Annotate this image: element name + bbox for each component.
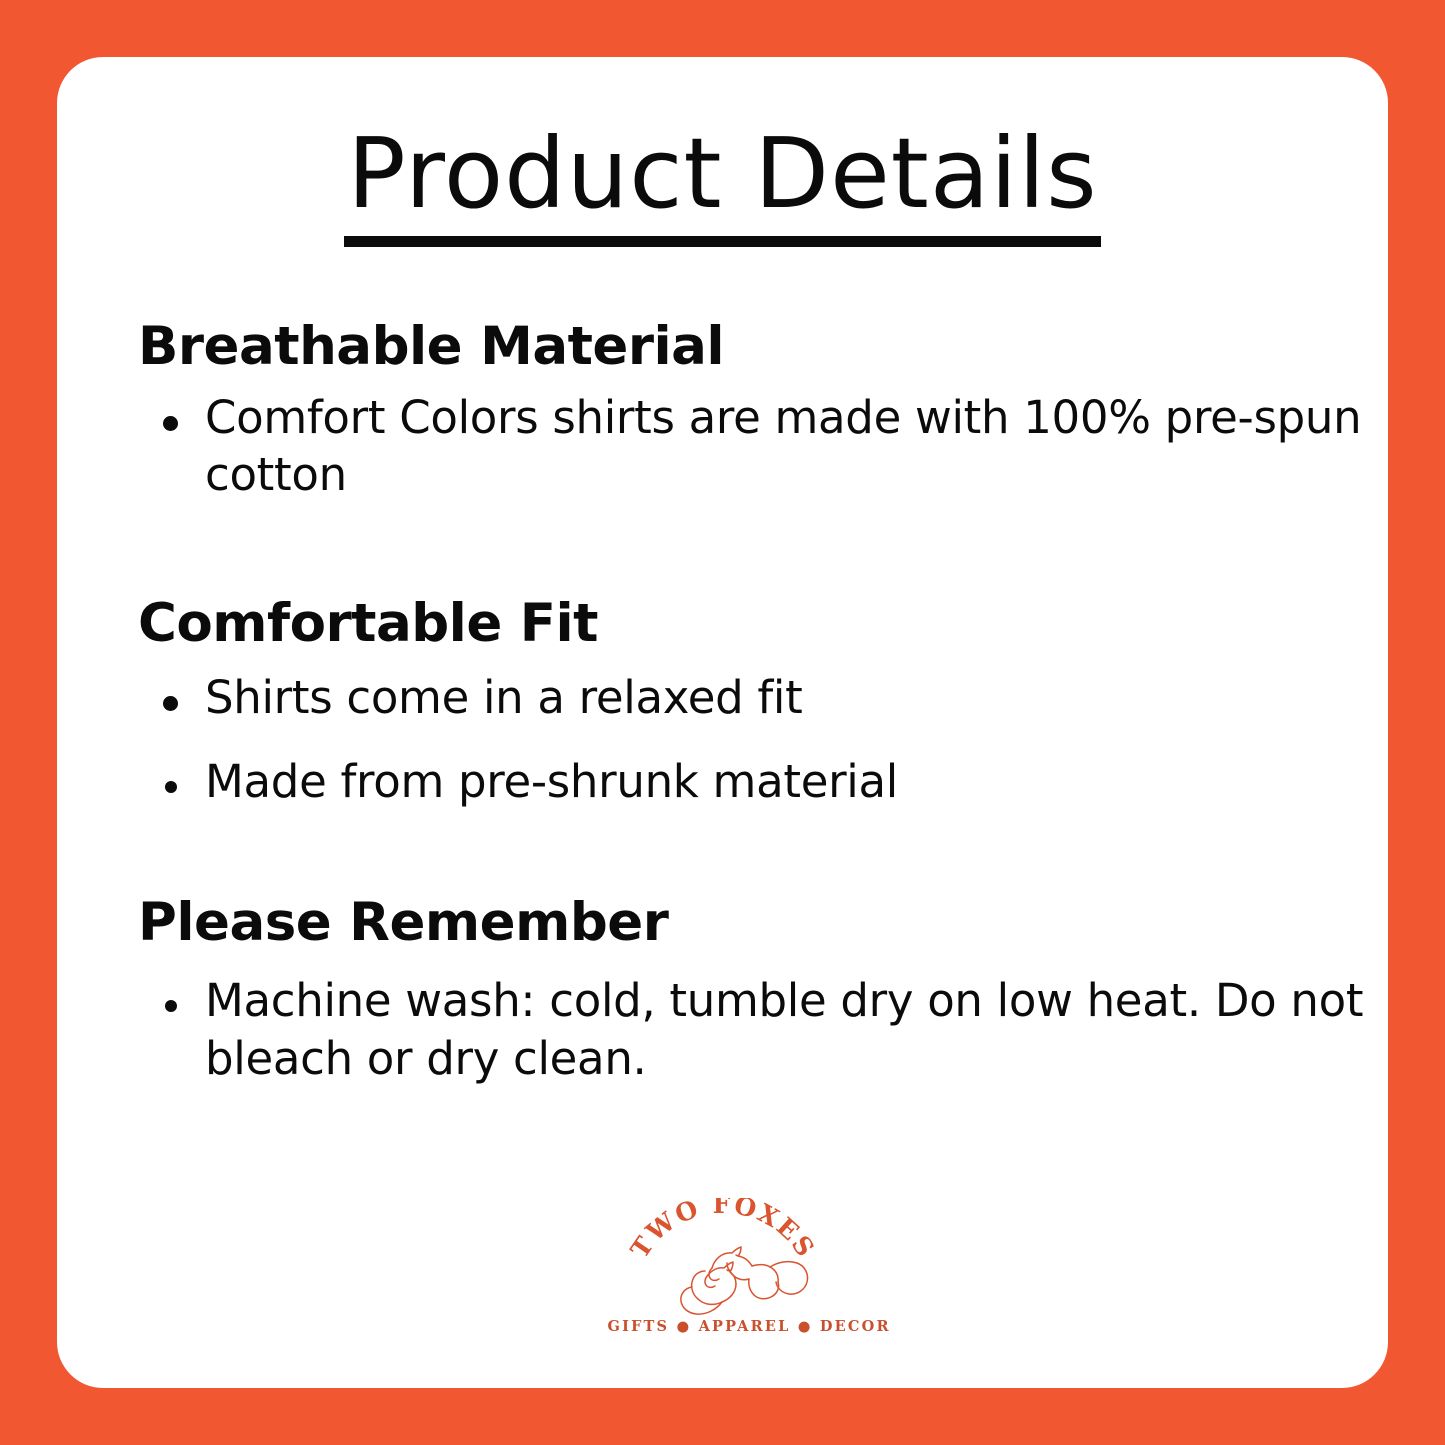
- list-item: Comfort Colors shirts are made with 100%…: [138, 389, 1368, 504]
- title-block: Product Details: [57, 125, 1388, 247]
- brand-logo: TWO FOXES: [608, 1198, 838, 1338]
- two-foxes-logo-mark: TWO FOXES: [608, 1198, 838, 1320]
- bullet-list: Machine wash: cold, tumble dry on low he…: [138, 972, 1368, 1087]
- section-breathable-material: Breathable Material Comfort Colors shirt…: [138, 319, 1368, 504]
- list-item: Machine wash: cold, tumble dry on low he…: [138, 972, 1368, 1087]
- white-content-card: Product Details Breathable Material Comf…: [57, 57, 1388, 1388]
- sections-container: Breathable Material Comfort Colors shirt…: [138, 319, 1368, 1087]
- orange-border-frame: Product Details Breathable Material Comf…: [0, 0, 1445, 1445]
- section-please-remember: Please Remember Machine wash: cold, tumb…: [138, 895, 1368, 1088]
- page-title: Product Details: [57, 125, 1388, 222]
- bullet-list: Comfort Colors shirts are made with 100%…: [138, 389, 1368, 504]
- section-heading: Please Remember: [138, 895, 1368, 951]
- list-item: Shirts come in a relaxed fit: [138, 669, 1368, 727]
- section-comfortable-fit: Comfortable Fit Shirts come in a relaxed…: [138, 596, 1368, 811]
- fox-curled-icon: [680, 1262, 735, 1314]
- list-item: Made from pre-shrunk material: [138, 753, 1368, 811]
- logo-tagline: GIFTS ● APPAREL ● DECOR: [608, 1318, 838, 1335]
- section-heading: Breathable Material: [138, 319, 1368, 375]
- bullet-list: Shirts come in a relaxed fit Made from p…: [138, 669, 1368, 810]
- title-underline-rule: [344, 236, 1101, 247]
- section-heading: Comfortable Fit: [138, 596, 1368, 652]
